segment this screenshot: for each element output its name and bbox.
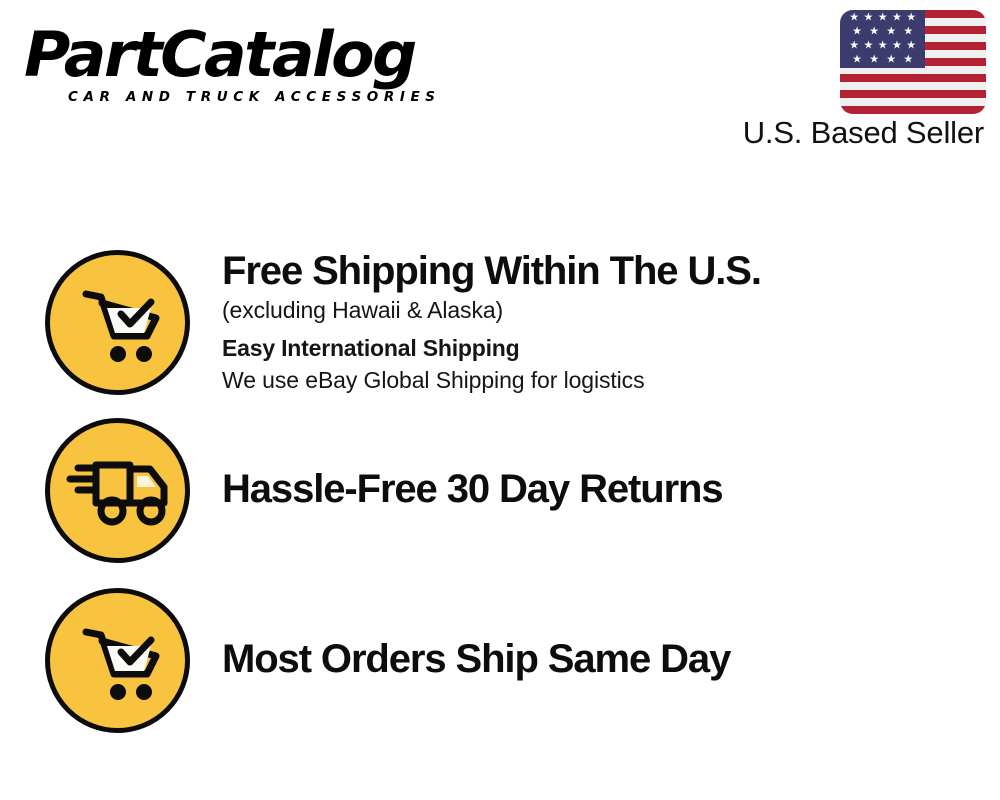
flag-star: ★ <box>864 13 874 24</box>
brand-wordmark: PartCatalog <box>24 22 503 88</box>
flag-stripe <box>840 82 986 90</box>
brand-logo[interactable]: PartCatalog CAR AND TRUCK ACCESSORIES <box>24 22 494 105</box>
flag-star: ★ <box>852 54 862 65</box>
flag-star: ★ <box>878 13 888 24</box>
feature-text-block: Free Shipping Within The U.S. (excluding… <box>190 230 1000 396</box>
us-based-seller-badge: ★★★★★★★★★★★★★★★★★★ U.S. Based Seller <box>696 10 986 152</box>
flag-star: ★ <box>903 54 913 65</box>
flag-star: ★ <box>906 40 916 51</box>
flag-star: ★ <box>849 40 859 51</box>
flag-canton: ★★★★★★★★★★★★★★★★★★ <box>840 10 925 68</box>
feature-row: Free Shipping Within The U.S. (excluding… <box>0 230 1000 410</box>
feature-heading: Hassle-Free 30 Day Returns <box>222 466 1000 512</box>
flag-star: ★ <box>869 54 879 65</box>
feature-text-block: Most Orders Ship Same Day <box>190 588 1000 682</box>
flag-star: ★ <box>892 40 902 51</box>
feature-heading: Most Orders Ship Same Day <box>222 636 1000 682</box>
shopping-cart-check-icon <box>45 250 190 395</box>
feature-subline: We use eBay Global Shipping for logistic… <box>222 364 1000 396</box>
shopping-cart-check-icon <box>45 588 190 733</box>
flag-star: ★ <box>886 27 896 38</box>
flag-star: ★ <box>878 40 888 51</box>
delivery-truck-icon <box>45 418 190 563</box>
page-header: PartCatalog CAR AND TRUCK ACCESSORIES ★★… <box>0 0 1000 170</box>
us-flag-icon: ★★★★★★★★★★★★★★★★★★ <box>840 10 986 114</box>
feature-subline-bold: Easy International Shipping <box>222 332 1000 364</box>
flag-star: ★ <box>906 13 916 24</box>
feature-heading: Free Shipping Within The U.S. <box>222 248 1000 294</box>
flag-stripe <box>840 106 986 114</box>
flag-star: ★ <box>869 27 879 38</box>
flag-star: ★ <box>903 27 913 38</box>
flag-star: ★ <box>864 40 874 51</box>
feature-text-block: Hassle-Free 30 Day Returns <box>190 418 1000 512</box>
flag-stripe <box>840 74 986 82</box>
flag-star: ★ <box>892 13 902 24</box>
seller-badge-label: U.S. Based Seller <box>696 114 986 152</box>
brand-tagline: CAR AND TRUCK ACCESSORIES <box>68 89 494 105</box>
flag-stripe <box>840 98 986 106</box>
flag-star: ★ <box>886 54 896 65</box>
feature-row: Most Orders Ship Same Day <box>0 588 1000 744</box>
flag-star: ★ <box>852 27 862 38</box>
flag-stripe <box>840 90 986 98</box>
feature-row: Hassle-Free 30 Day Returns <box>0 418 1000 574</box>
feature-subline: (excluding Hawaii & Alaska) <box>222 294 1000 326</box>
flag-star: ★ <box>849 13 859 24</box>
